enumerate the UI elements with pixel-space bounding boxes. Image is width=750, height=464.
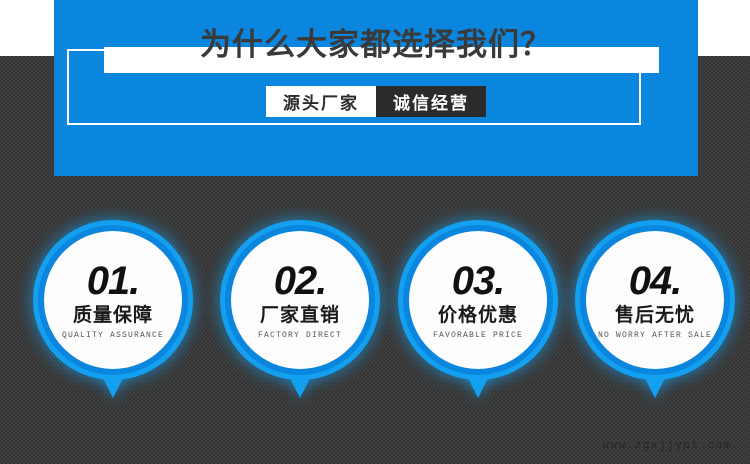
feature-pin-row: 01. 质量保障 QUALITY ASSURANCE 02. 厂家直销 FACT… [0,220,750,420]
feature-title-cn: 价格优惠 [438,306,518,325]
feature-title-cn: 质量保障 [73,306,153,325]
feature-number: 03. [452,261,505,301]
feature-number: 04. [629,261,682,301]
feature-pin-3: 03. 价格优惠 FAVORABLE PRICE [398,220,558,405]
hero-badge-group: 源头厂家 诚信经营 [54,86,698,117]
site-watermark: www.zgxjjypt.com [602,440,732,452]
pin-face: 02. 厂家直销 FACTORY DIRECT [231,231,369,369]
feature-number: 01. [87,261,140,301]
feature-pin-2: 02. 厂家直销 FACTORY DIRECT [220,220,380,405]
badge-source-factory: 源头厂家 [266,86,376,117]
pin-face: 04. 售后无忧 NO WORRY AFTER SALE [586,231,724,369]
feature-title-en: QUALITY ASSURANCE [62,332,164,340]
feature-title-en: FACTORY DIRECT [258,332,342,340]
feature-pin-1: 01. 质量保障 QUALITY ASSURANCE [33,220,193,405]
feature-title-cn: 售后无忧 [615,306,695,325]
feature-number: 02. [274,261,327,301]
feature-title-en: FAVORABLE PRICE [433,332,523,340]
feature-title-cn: 厂家直销 [260,306,340,325]
page-title: 为什么大家都选择我们？ [54,24,698,66]
feature-title-en: NO WORRY AFTER SALE [598,332,712,340]
promo-banner: 为什么大家都选择我们？ 源头厂家 诚信经营 01. 质量保障 QUALITY A… [0,0,750,464]
feature-pin-4: 04. 售后无忧 NO WORRY AFTER SALE [575,220,735,405]
pin-face: 01. 质量保障 QUALITY ASSURANCE [44,231,182,369]
badge-honest-business: 诚信经营 [376,86,486,117]
pin-face: 03. 价格优惠 FAVORABLE PRICE [409,231,547,369]
